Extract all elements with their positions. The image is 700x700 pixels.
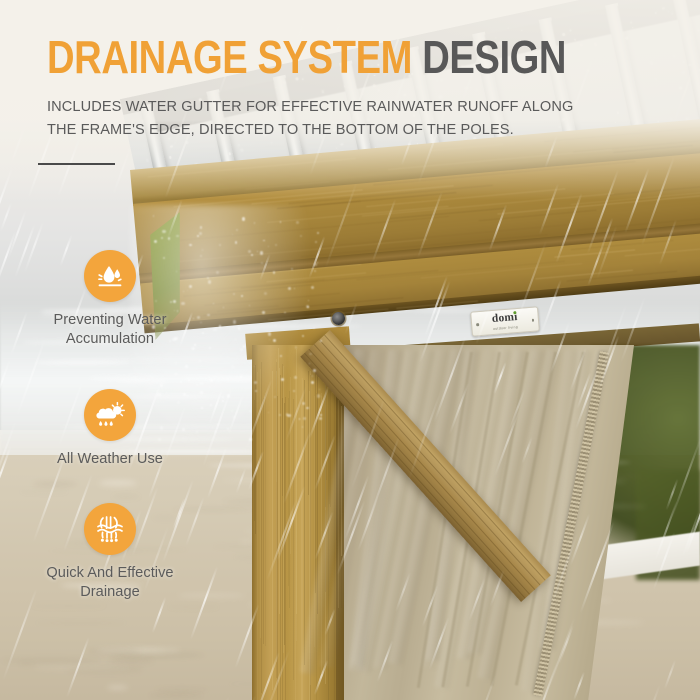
page-title: DRAINAGE SYSTEM DESIGN	[47, 34, 566, 80]
page-subtitle: INCLUDES WATER GUTTER FOR EFFECTIVE RAIN…	[47, 95, 585, 141]
feature-item-quick-and-effective-drainage: Quick And Effective Drainage	[15, 503, 205, 601]
feature-label: All Weather Use	[57, 450, 163, 469]
divider-rule	[38, 163, 115, 165]
brand-tagline: outdoor living	[493, 325, 518, 331]
feature-label: Preventing Water Accumulation	[15, 311, 205, 348]
feature-label: Quick And Effective Drainage	[15, 564, 205, 601]
sun-cloud-rain-icon	[84, 389, 136, 441]
drainage-flow-icon	[84, 503, 136, 555]
feature-item-preventing-water-accumulation: Preventing Water Accumulation	[15, 250, 205, 348]
feature-item-all-weather-use: All Weather Use	[15, 389, 205, 469]
title-highlight: DRAINAGE SYSTEM	[47, 31, 412, 83]
product-marketing-image: domi outdoor living DRAINAGE SYSTEM DESI…	[0, 0, 700, 700]
title-rest: DESIGN	[422, 31, 566, 83]
water-droplet-splash-icon	[84, 250, 136, 302]
brand-name: domi	[491, 312, 518, 326]
